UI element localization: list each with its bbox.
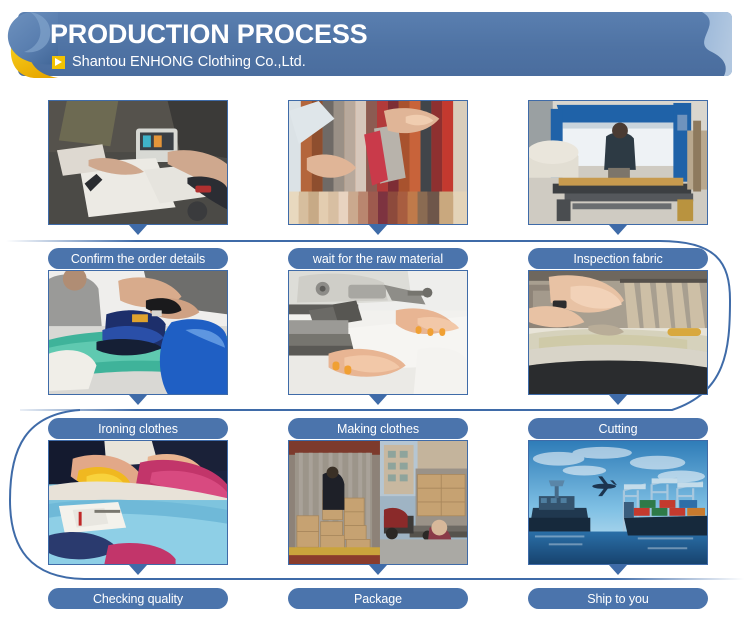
process-step[interactable]: Package — [288, 440, 468, 565]
step-label[interactable]: Confirm the order details — [48, 248, 228, 269]
fabric-cutting-table-photo — [528, 270, 708, 395]
fabric-inspection-machine-photo — [528, 100, 708, 225]
step-arrow-icon — [129, 395, 147, 405]
step-arrow-icon — [609, 395, 627, 405]
quality-inspection-photo — [48, 440, 228, 565]
ironing-garment-photo — [48, 270, 228, 395]
process-step[interactable]: Ironing clothes — [48, 270, 228, 395]
play-triangle-icon — [52, 56, 65, 69]
process-row-1: Confirm the order details — [0, 100, 750, 270]
step-label[interactable]: Ship to you — [528, 588, 708, 609]
process-row-2: Ironing clothes — [0, 270, 750, 440]
process-step[interactable]: Confirm the order details — [48, 100, 228, 225]
container-loading-photo — [288, 440, 468, 565]
step-label[interactable]: Ironing clothes — [48, 418, 228, 439]
step-label[interactable]: wait for the raw material — [288, 248, 468, 269]
step-arrow-icon — [129, 565, 147, 575]
process-step[interactable]: Cutting — [528, 270, 708, 395]
sewing-machine-photo — [288, 270, 468, 395]
page-title: PRODUCTION PROCESS — [50, 19, 367, 50]
process-step[interactable]: Inspection fabric — [528, 100, 708, 225]
step-arrow-icon — [129, 225, 147, 235]
step-arrow-icon — [609, 225, 627, 235]
step-label[interactable]: Making clothes — [288, 418, 468, 439]
fabric-swatches-photo — [288, 100, 468, 225]
step-label[interactable]: Inspection fabric — [528, 248, 708, 269]
process-step[interactable]: Ship to you — [528, 440, 708, 565]
company-name: Shantou ENHONG Clothing Co.,Ltd. — [72, 54, 306, 70]
process-step[interactable]: Checking quality — [48, 440, 228, 565]
company-name-row: Shantou ENHONG Clothing Co.,Ltd. — [52, 54, 306, 70]
step-label[interactable]: Package — [288, 588, 468, 609]
cargo-ship-port-photo — [528, 440, 708, 565]
meeting-order-documents-photo — [48, 100, 228, 225]
header-swoosh-right-decoration — [672, 12, 732, 76]
process-step[interactable]: Making clothes — [288, 270, 468, 395]
step-label[interactable]: Cutting — [528, 418, 708, 439]
step-label[interactable]: Checking quality — [48, 588, 228, 609]
step-arrow-icon — [369, 225, 387, 235]
step-arrow-icon — [609, 565, 627, 575]
step-arrow-icon — [369, 565, 387, 575]
process-row-3: Checking quality — [0, 440, 750, 610]
process-step[interactable]: wait for the raw material — [288, 100, 468, 225]
step-arrow-icon — [369, 395, 387, 405]
page-header: PRODUCTION PROCESS Shantou ENHONG Clothi… — [0, 8, 750, 80]
process-steps-grid: Confirm the order details — [0, 100, 750, 610]
